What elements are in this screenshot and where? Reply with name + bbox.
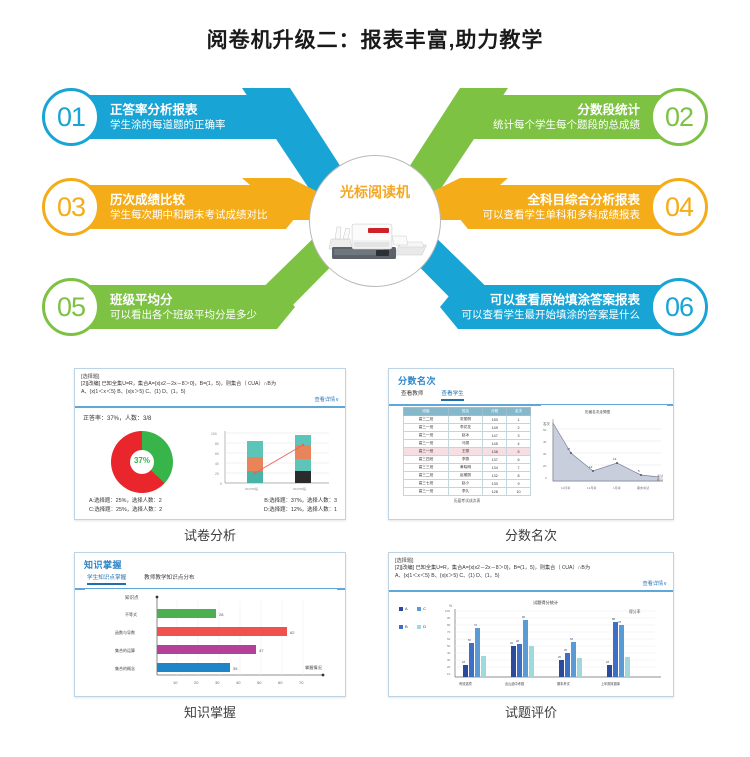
table-cell: 4: [507, 440, 531, 448]
svg-text:50: 50: [543, 428, 547, 432]
svg-text:1月考: 1月考: [613, 485, 621, 490]
question-tag-1: [选择题]: [81, 374, 339, 381]
table-cell: 137: [483, 456, 507, 464]
svg-text:30: 30: [543, 452, 547, 456]
donut-chart-correct-rate: 37%: [111, 431, 173, 493]
svg-text:25: 25: [558, 655, 561, 659]
donut-center-label: 37%: [111, 456, 173, 465]
score-rank-table: 班级 姓名 分数 名次 高三二班张丽丽1501高三一班李花花1492高三一班赵冰…: [403, 407, 531, 496]
svg-text:40: 40: [236, 680, 241, 685]
table-cell: 黄晓明: [448, 464, 482, 472]
feature-sub-03: 学生每次期中和期末考试成绩对比: [110, 208, 304, 222]
table-cell: 1: [507, 416, 531, 424]
table-cell: 高三一班: [404, 448, 449, 456]
svg-text:95: 95: [522, 615, 525, 619]
svg-text:35: 35: [233, 666, 238, 671]
choice-stat-b: B:选择题：37%，选择人数：3: [264, 497, 337, 506]
svg-text:集合的运算: 集合的运算: [115, 647, 135, 653]
correct-rate-text: 正答率：37%，人数：3/8: [75, 408, 345, 422]
score-rank-table-body: 高三二班张丽丽1501高三一班李花花1492高三一班赵冰1473高三一班马丽14…: [404, 416, 531, 496]
svg-text:20: 20: [194, 680, 199, 685]
hub-label: 光标阅读机: [310, 182, 440, 202]
view-detail-link-4[interactable]: 查看详情∨: [395, 580, 667, 588]
svg-text:0: 0: [545, 476, 547, 480]
screenshot-panels: [选择题] [2][改编] 已知全集U=R，集合A={x|x2－2x－8＞0}，…: [0, 362, 750, 757]
score-rank-table-wrap: 班级 姓名 分数 名次 高三二班张丽丽1501高三一班李花花1492高三一班赵冰…: [403, 407, 531, 504]
table-cell: 147: [483, 432, 507, 440]
table-cell: 132: [483, 472, 507, 480]
feature-item-06[interactable]: 06 可以查看原始填涂答案报表 可以查看学生最开始填涂的答案是什么: [440, 278, 708, 336]
rank-trend-area-chart: 历届名次走势图 名次 50 40 30 20 0: [541, 405, 667, 497]
center-hub: 光标阅读机: [309, 155, 441, 287]
table-cell: 李燕: [448, 456, 482, 464]
table-row[interactable]: 高三七班赵小1309: [404, 480, 531, 488]
question-block-1: [选择题] [2][改编] 已知全集U=R，集合A={x|x2－2x－8＞0}，…: [75, 369, 345, 408]
feature-sub-06: 可以查看学生最开始填涂的答案是什么: [462, 308, 641, 322]
chart-note-4: 得分率: [629, 609, 641, 614]
panel-score-rank[interactable]: 分数名次 查看教师 查看学生 班级 姓名 分数 名次: [388, 368, 674, 544]
svg-text:88: 88: [612, 617, 615, 621]
table-cell: 7: [507, 464, 531, 472]
table-cell: 李花花: [448, 424, 482, 432]
legend-item-a: A: [399, 606, 408, 611]
svg-text:45: 45: [510, 641, 513, 645]
table-cell: 5: [507, 448, 531, 456]
panel-4-screenshot: [选择题] [2][改编] 已知全集U=R，集合A={x|x2－2x－8＞0}，…: [388, 552, 674, 697]
svg-text:有效选项: 有效选项: [459, 681, 473, 686]
svg-text:掌握情况: 掌握情况: [305, 664, 323, 671]
radial-diagram: 01 正答率分析报表 学生涂的每道题的正确率 02 分数段统计 统计每个学生每个…: [0, 70, 750, 360]
svg-text:知识点: 知识点: [125, 594, 139, 601]
panel-knowledge-mastery[interactable]: 知识掌握 学生知识点掌握 教师教学知识点分布 知识点: [74, 552, 346, 721]
legend-swatch-b: [399, 625, 403, 629]
feature-heading-05: 班级平均分: [110, 293, 295, 308]
svg-text:201706班: 201706班: [293, 486, 306, 491]
table-cell: 149: [483, 424, 507, 432]
svg-text:80: 80: [447, 623, 451, 627]
table-cell: 赵雅丽: [448, 472, 482, 480]
panel-1-screenshot: [选择题] [2][改编] 已知全集U=R，集合A={x|x2－2x－8＞0}，…: [74, 368, 346, 520]
svg-text:上年期末题库: 上年期末题库: [601, 681, 621, 686]
svg-text:不等式: 不等式: [125, 611, 137, 617]
svg-text:期末考试: 期末考试: [557, 681, 571, 686]
chart-title-4: 试题得分统计: [533, 599, 558, 606]
question-line2-1: A、{x|1＜x＜5} B、{x|x＞5} C、(1) D、(1，5): [81, 389, 339, 397]
feature-number-03: 03: [42, 178, 100, 236]
svg-text:78: 78: [618, 620, 621, 624]
svg-text:10: 10: [447, 672, 451, 676]
panel-caption-paper-analysis: 试卷分析: [74, 525, 346, 544]
col-rank: 名次: [507, 408, 531, 416]
table-cell: 150: [483, 416, 507, 424]
stacked-bar-chart-options: 100 80 60 40 20 0: [207, 427, 333, 495]
feature-sub-01: 学生涂的每道题的正确率: [110, 118, 297, 132]
table-cell: 高三一班: [404, 432, 449, 440]
infographic-page: 阅卷机升级二：报表丰富,助力教学 01 正答率分析报表 学生涂的每道题的正确率: [0, 0, 750, 757]
svg-text:50: 50: [447, 644, 451, 648]
svg-text:50: 50: [257, 680, 262, 685]
feature-item-04[interactable]: 04 全科目综合分析报表 可以查看学生单科和多科成绩报表: [450, 178, 708, 236]
svg-text:47: 47: [567, 447, 571, 451]
table-cell: 高三三班: [404, 464, 449, 472]
panel-question-evaluation[interactable]: [选择题] [2][改编] 已知全集U=R，集合A={x|x2－2x－8＞0}，…: [388, 552, 674, 721]
panel-2-screenshot: 分数名次 查看教师 查看学生 班级 姓名 分数 名次: [388, 368, 674, 520]
table-row[interactable]: 高三一班王丽1385: [404, 448, 531, 456]
svg-text:62: 62: [290, 630, 295, 635]
feature-number-01: 01: [42, 88, 100, 146]
svg-text:100: 100: [445, 609, 450, 613]
panel-2-title: 分数名次: [389, 369, 673, 389]
table-caption: 历届考试成次表: [403, 499, 531, 504]
svg-text:科目: 科目: [657, 477, 663, 482]
table-cell: 2: [507, 424, 531, 432]
svg-text:5: 5: [638, 469, 640, 473]
feature-heading-02: 分数段统计: [577, 103, 640, 118]
feature-sub-02: 统计每个学生每个题段的总成绩: [493, 118, 640, 132]
svg-text:0: 0: [220, 482, 222, 486]
table-cell: 128: [483, 488, 507, 496]
legend-item-b: B: [399, 624, 408, 629]
question-evaluation-bar-chart: 试题得分统计 得分率 % 100 90 80: [433, 595, 671, 695]
legend-item-c: C: [417, 606, 426, 611]
svg-text:70: 70: [447, 630, 451, 634]
feature-band-01: 正答率分析报表 学生涂的每道题的正确率: [86, 95, 297, 139]
col-name: 姓名: [448, 408, 482, 416]
legend-swatch-d: [417, 625, 421, 629]
table-header-row: 班级 姓名 分数 名次: [404, 408, 531, 416]
feature-number-06: 06: [650, 278, 708, 336]
svg-text:48: 48: [516, 639, 519, 643]
choice-stat-d: D:选择题：12%，选择人数：1: [264, 506, 337, 515]
table-cell: 高三一班: [404, 488, 449, 496]
svg-text:30: 30: [447, 658, 451, 662]
table-row[interactable]: 高三二班张丽丽1501: [404, 416, 531, 424]
table-cell: 8: [507, 472, 531, 480]
feature-heading-04: 全科目综合分析报表: [527, 193, 640, 208]
feature-number-04: 04: [650, 178, 708, 236]
feature-heading-06: 可以查看原始填涂答案报表: [490, 293, 640, 308]
table-cell: 高三二班: [404, 472, 449, 480]
panel-paper-analysis[interactable]: [选择题] [2][改编] 已知全集U=R，集合A={x|x2－2x－8＞0}，…: [74, 368, 346, 544]
tab-student-knowledge[interactable]: 学生知识点掌握: [87, 573, 126, 585]
feature-heading-03: 历次成绩比较: [110, 193, 304, 208]
svg-text:20: 20: [447, 665, 451, 669]
table-row[interactable]: 高三四班李燕1376: [404, 456, 531, 464]
choice-stat-a: A:选择题：25%，选择人数：2: [89, 497, 162, 506]
feature-item-05[interactable]: 05 班级平均分 可以看出各个班级平均分是多少: [42, 278, 295, 336]
table-cell: 赵冰: [448, 432, 482, 440]
table-row[interactable]: 高三一班赵冰1473: [404, 432, 531, 440]
series-legend: A C B D: [399, 597, 431, 633]
table-cell: 高三四班: [404, 456, 449, 464]
page-title: 阅卷机升级二：报表丰富,助力教学: [0, 24, 750, 54]
table-cell: 6: [507, 456, 531, 464]
svg-text:20: 20: [215, 472, 219, 476]
table-cell: 145: [483, 440, 507, 448]
svg-text:28: 28: [219, 612, 224, 617]
feature-band-04: 全科目综合分析报表 可以查看学生单科和多科成绩报表: [450, 185, 664, 229]
table-row[interactable]: 高三三班黄晓明1347: [404, 464, 531, 472]
feature-item-01[interactable]: 01 正答率分析报表 学生涂的每道题的正确率: [42, 88, 297, 146]
svg-text:30: 30: [215, 680, 220, 685]
table-cell: 李久: [448, 488, 482, 496]
svg-text:60: 60: [278, 680, 283, 685]
panel-caption-score-rank: 分数名次: [388, 525, 674, 544]
svg-text:40: 40: [543, 440, 547, 444]
table-cell: 9: [507, 480, 531, 488]
table-cell: 高三七班: [404, 480, 449, 488]
svg-text:12: 12: [589, 465, 593, 469]
tab-teacher-knowledge[interactable]: 教师教学知识点分布: [144, 573, 194, 585]
question-block-4: [选择题] [2][改编] 已知全集U=R，集合A={x|x2－2x－8＞0}，…: [389, 553, 673, 592]
feature-band-05: 班级平均分 可以看出各个班级平均分是多少: [86, 285, 295, 329]
table-cell: 马丽: [448, 440, 482, 448]
svg-text:集合的概念: 集合的概念: [115, 665, 135, 671]
feature-sub-05: 可以看出各个班级平均分是多少: [110, 308, 295, 322]
svg-text:90: 90: [447, 616, 451, 620]
feature-number-05: 05: [42, 278, 100, 336]
feature-sub-04: 可以查看学生单科和多科成绩报表: [483, 208, 641, 222]
panel-3-title: 知识掌握: [75, 553, 345, 573]
tab-view-student[interactable]: 查看学生: [441, 389, 463, 401]
table-row[interactable]: 高三二班赵雅丽1328: [404, 472, 531, 480]
table-row[interactable]: 高三一班马丽1454: [404, 440, 531, 448]
feature-heading-01: 正答率分析报表: [110, 103, 297, 118]
svg-text:函数与导数: 函数与导数: [115, 629, 135, 635]
tab-view-teacher[interactable]: 查看教师: [401, 389, 423, 401]
svg-text:60: 60: [447, 637, 451, 641]
legend-item-d: D: [417, 624, 426, 629]
svg-text:18: 18: [462, 660, 465, 664]
svg-text:100: 100: [211, 432, 217, 436]
svg-text:40: 40: [447, 651, 451, 655]
choice-stats-block: A:选择题：25%，选择人数：2 B:选择题：37%，选择人数：3 C:选择题：…: [89, 497, 337, 515]
svg-text:60: 60: [215, 452, 219, 456]
svg-text:10: 10: [173, 680, 178, 685]
panel-3-screenshot: 知识掌握 学生知识点掌握 教师教学知识点分布 知识点: [74, 552, 346, 697]
panel-caption-knowledge-mastery: 知识掌握: [74, 702, 346, 721]
question-line1-1: [2][改编] 已知全集U=R，集合A={x|x2－2x－8＞0}，B=(1，5…: [81, 381, 339, 389]
feature-item-02[interactable]: 02 分数段统计 统计每个学生每个题段的总成绩: [448, 88, 708, 146]
table-cell: 王丽: [448, 448, 482, 456]
table-cell: 高三二班: [404, 416, 449, 424]
svg-text:13: 13: [613, 457, 617, 461]
svg-text:18: 18: [606, 660, 609, 664]
feature-band-06: 可以查看原始填涂答案报表 可以查看学生最开始填涂的答案是什么: [440, 285, 664, 329]
svg-text:名次: 名次: [543, 421, 550, 426]
knowledge-mastery-bar-chart: 知识点: [85, 589, 337, 693]
svg-text:50: 50: [468, 638, 471, 642]
table-cell: 张丽丽: [448, 416, 482, 424]
legend-swatch-c: [417, 607, 421, 611]
col-class: 班级: [404, 408, 449, 416]
scanner-machine-icon: [324, 214, 428, 266]
svg-text:20: 20: [543, 464, 547, 468]
view-detail-link-1[interactable]: 查看详情∨: [81, 396, 339, 404]
legend-swatch-a: [399, 607, 403, 611]
table-cell: 高三一班: [404, 424, 449, 432]
question-line1-4: [2][改编] 已知全集U=R，集合A={x|x2－2x－8＞0}，B=(1，5…: [395, 565, 667, 573]
svg-text:历届名次走势图: 历届名次走势图: [585, 409, 611, 414]
table-cell: 赵小: [448, 480, 482, 488]
table-cell: 134: [483, 464, 507, 472]
table-row[interactable]: 高三一班李久12810: [404, 488, 531, 496]
svg-text:40: 40: [215, 462, 219, 466]
table-cell: 130: [483, 480, 507, 488]
table-row[interactable]: 高三一班李花花1492: [404, 424, 531, 432]
table-cell: 10: [507, 488, 531, 496]
svg-text:201706班: 201706班: [245, 486, 258, 491]
table-cell: 138: [483, 448, 507, 456]
panel-caption-question-evaluation: 试题评价: [388, 702, 674, 721]
feature-band-03: 历次成绩比较 学生每次期中和期末考试成绩对比: [86, 185, 304, 229]
question-line2-4: A、{x|1＜x＜5} B、{x|x＞5} C、(1) D、(1，5): [395, 573, 667, 581]
svg-text:出山函中考题: 出山函中考题: [505, 681, 525, 686]
svg-text:80: 80: [215, 442, 219, 446]
panel-3-tabs: 学生知识点掌握 教师教学知识点分布: [75, 573, 345, 590]
table-cell: 3: [507, 432, 531, 440]
feature-item-03[interactable]: 03 历次成绩比较 学生每次期中和期末考试成绩对比: [42, 178, 304, 236]
feature-band-02: 分数段统计 统计每个学生每个题段的总成绩: [448, 95, 664, 139]
svg-text:期末考试: 期末考试: [637, 485, 649, 490]
col-score: 分数: [483, 408, 507, 416]
svg-text:11月考: 11月考: [561, 485, 570, 490]
question-tag-4: [选择题]: [395, 558, 667, 565]
svg-text:70: 70: [299, 680, 304, 685]
svg-text:35: 35: [564, 648, 567, 652]
feature-number-02: 02: [650, 88, 708, 146]
svg-text:%: %: [449, 604, 452, 608]
svg-text:12月考: 12月考: [587, 485, 596, 490]
panel-2-tabs: 查看教师 查看学生: [389, 389, 673, 406]
choice-stat-c: C:选择题：25%，选择人数：2: [89, 506, 162, 515]
table-cell: 高三一班: [404, 440, 449, 448]
svg-text:47: 47: [259, 648, 264, 653]
